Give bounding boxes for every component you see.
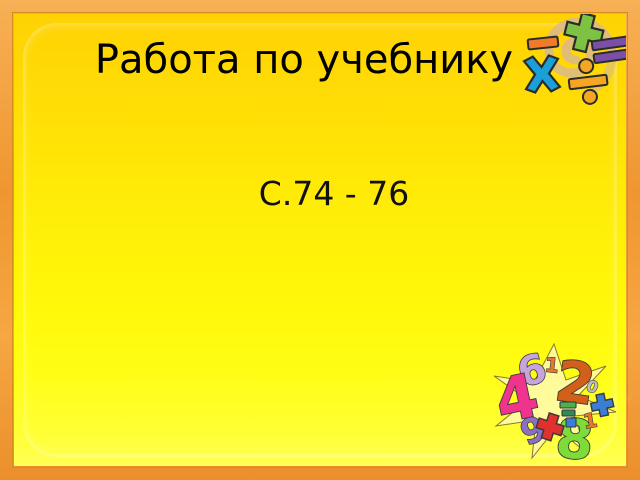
slide-canvas: Работа по учебнику С.74 - 76: [0, 0, 640, 480]
page-title: Работа по учебнику: [54, 36, 554, 84]
math-symbols-decoration: [512, 14, 626, 108]
minus-sign-icon: [528, 36, 559, 49]
slide-content-area: Работа по учебнику С.74 - 76: [14, 14, 626, 466]
slide-body-text: С.74 - 76: [74, 174, 594, 214]
multiply-sign-icon: [524, 55, 560, 93]
numbers-burst-decoration: 6 1 2 4 0: [488, 340, 620, 464]
